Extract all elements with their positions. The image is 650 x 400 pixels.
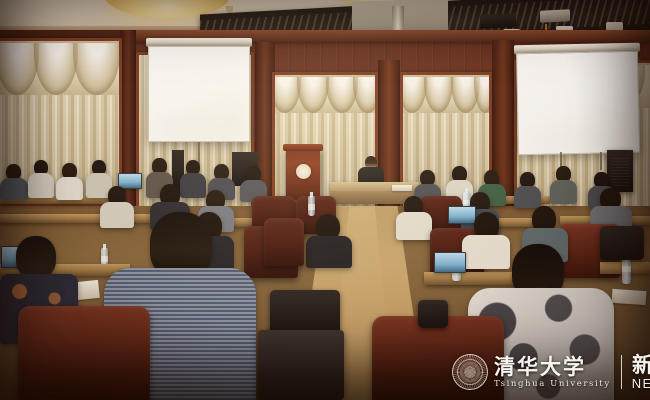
bag (418, 300, 448, 328)
water-bottle (622, 258, 631, 284)
screen-support-leg (600, 152, 602, 170)
audience-member (396, 212, 432, 240)
chair (372, 316, 504, 400)
chair (18, 306, 150, 400)
audience-member (56, 177, 83, 200)
audience-member (100, 202, 134, 228)
paper-notes (612, 289, 647, 305)
audience-member (462, 235, 510, 269)
pa-loudspeaker (607, 150, 633, 192)
water-bottle (308, 196, 315, 216)
screen-surface (516, 51, 640, 156)
laptop (434, 252, 466, 273)
screen-surface (148, 46, 250, 142)
laptop (448, 206, 476, 224)
audience-member (16, 236, 56, 278)
audience-member (0, 178, 28, 200)
bag (600, 226, 644, 260)
projection-screen-right (514, 43, 642, 156)
projection-screen-left (146, 38, 252, 142)
audience-member (550, 180, 577, 204)
projector-icon (480, 13, 516, 29)
conference-hall-photo: 清华大学 Tsinghua University 新闻 NEWS (0, 0, 650, 400)
projector-icon (540, 9, 570, 23)
rolling-suitcase (258, 330, 344, 400)
audience-member (306, 236, 352, 268)
podium-seal-icon (296, 164, 311, 179)
audience-member (28, 173, 54, 198)
audience-member (514, 186, 541, 208)
chair (264, 218, 304, 266)
podium-top (283, 144, 323, 151)
audience-member (180, 173, 206, 198)
podium (286, 148, 320, 200)
paper-notes (392, 185, 412, 191)
